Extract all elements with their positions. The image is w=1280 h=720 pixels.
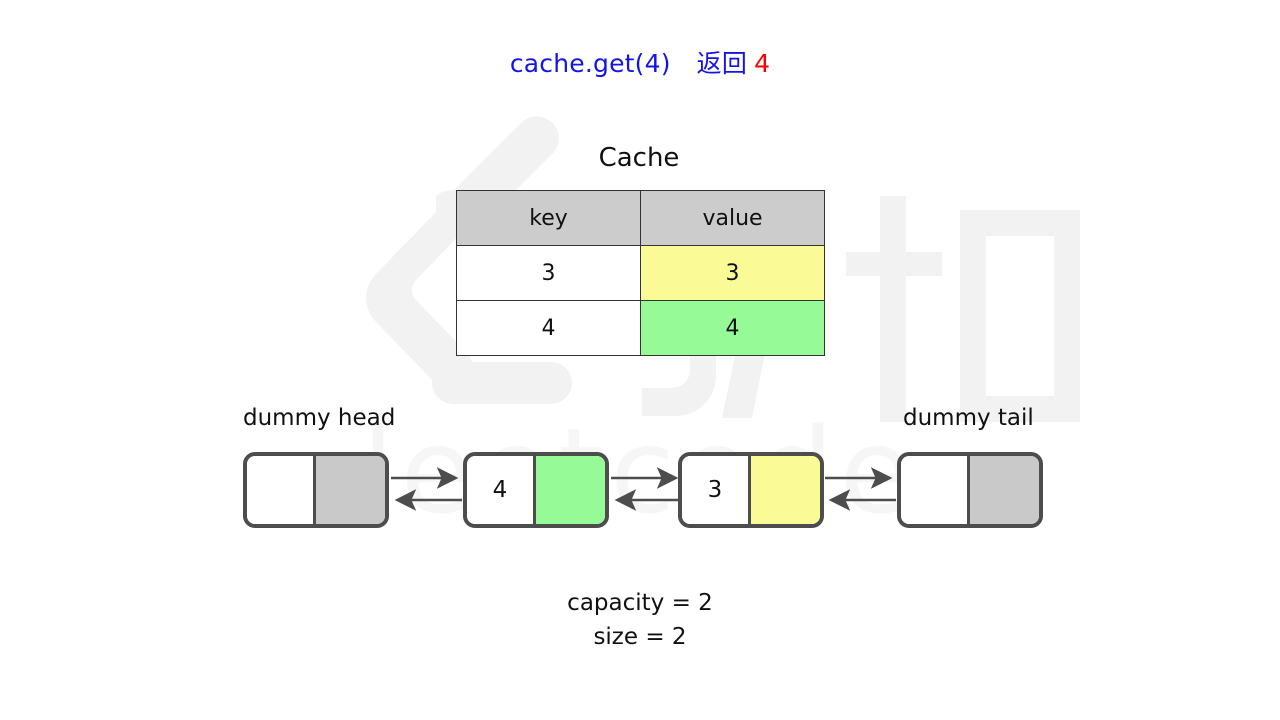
node-dummy-tail <box>897 452 1043 528</box>
node-key-cell: 4 <box>467 456 536 524</box>
node-dummy-head <box>243 452 389 528</box>
node-value-cell <box>970 456 1039 524</box>
node-key-cell <box>247 456 316 524</box>
node-value-cell <box>316 456 385 524</box>
dummy-head-label: dummy head <box>243 405 395 431</box>
cache-stats: capacity = 2 size = 2 <box>0 586 1280 654</box>
node-3: 3 <box>678 452 824 528</box>
node-key-cell <box>901 456 970 524</box>
dummy-tail-label: dummy tail <box>903 405 1034 431</box>
node-4: 4 <box>463 452 609 528</box>
node-value-cell <box>751 456 820 524</box>
diagram-canvas: leetcode cache.get(4)返回4 Cache key value… <box>0 0 1280 720</box>
node-value-cell <box>536 456 605 524</box>
capacity-text: capacity = 2 <box>0 586 1280 620</box>
size-text: size = 2 <box>0 620 1280 654</box>
node-key-cell: 3 <box>682 456 751 524</box>
